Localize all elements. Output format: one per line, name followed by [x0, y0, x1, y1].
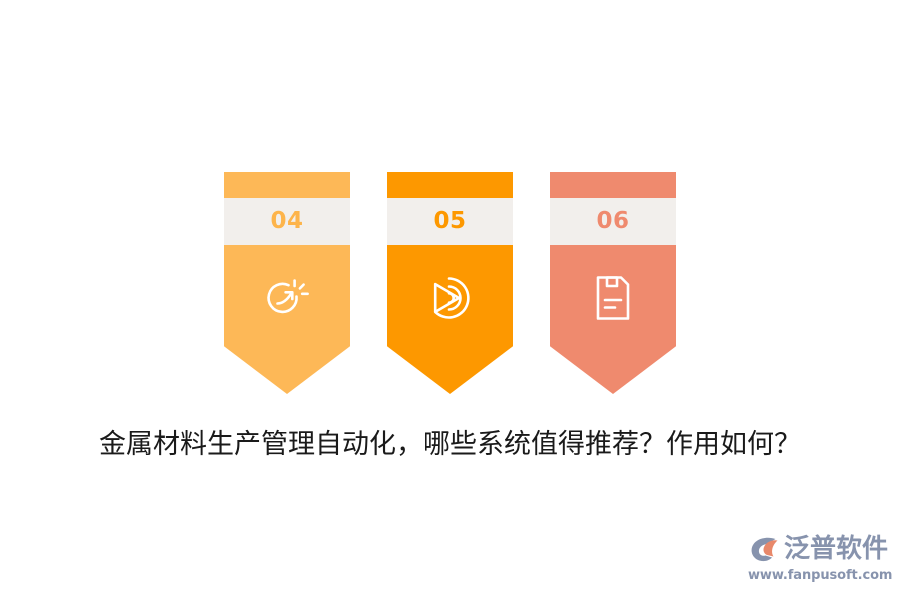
- banner-card-06[interactable]: 06: [550, 172, 676, 394]
- watermark-logo: 泛普软件 www.fanpusoft.com: [748, 530, 888, 592]
- banner-number-band: 05: [387, 198, 513, 245]
- document-file-icon: [550, 270, 676, 326]
- page-canvas: 04 05: [0, 0, 900, 600]
- banner-card-05[interactable]: 05: [387, 172, 513, 394]
- banner-number-label: 04: [270, 210, 303, 233]
- watermark-url: www.fanpusoft.com: [748, 568, 888, 584]
- watermark-brand-name: 泛普软件: [784, 534, 888, 564]
- growth-burst-icon: [224, 270, 350, 326]
- broadcast-signal-icon: [387, 270, 513, 326]
- page-title: 金属材料生产管理自动化，哪些系统值得推荐？作用如何？: [0, 425, 900, 465]
- banner-number-label: 06: [596, 210, 629, 233]
- banner-row: 04 05: [0, 172, 900, 402]
- banner-number-band: 04: [224, 198, 350, 245]
- watermark-brand-row: 泛普软件: [748, 530, 888, 568]
- banner-number-band: 06: [550, 198, 676, 245]
- fanpu-logo-icon: [750, 534, 782, 564]
- banner-number-label: 05: [433, 210, 466, 233]
- banner-card-04[interactable]: 04: [224, 172, 350, 394]
